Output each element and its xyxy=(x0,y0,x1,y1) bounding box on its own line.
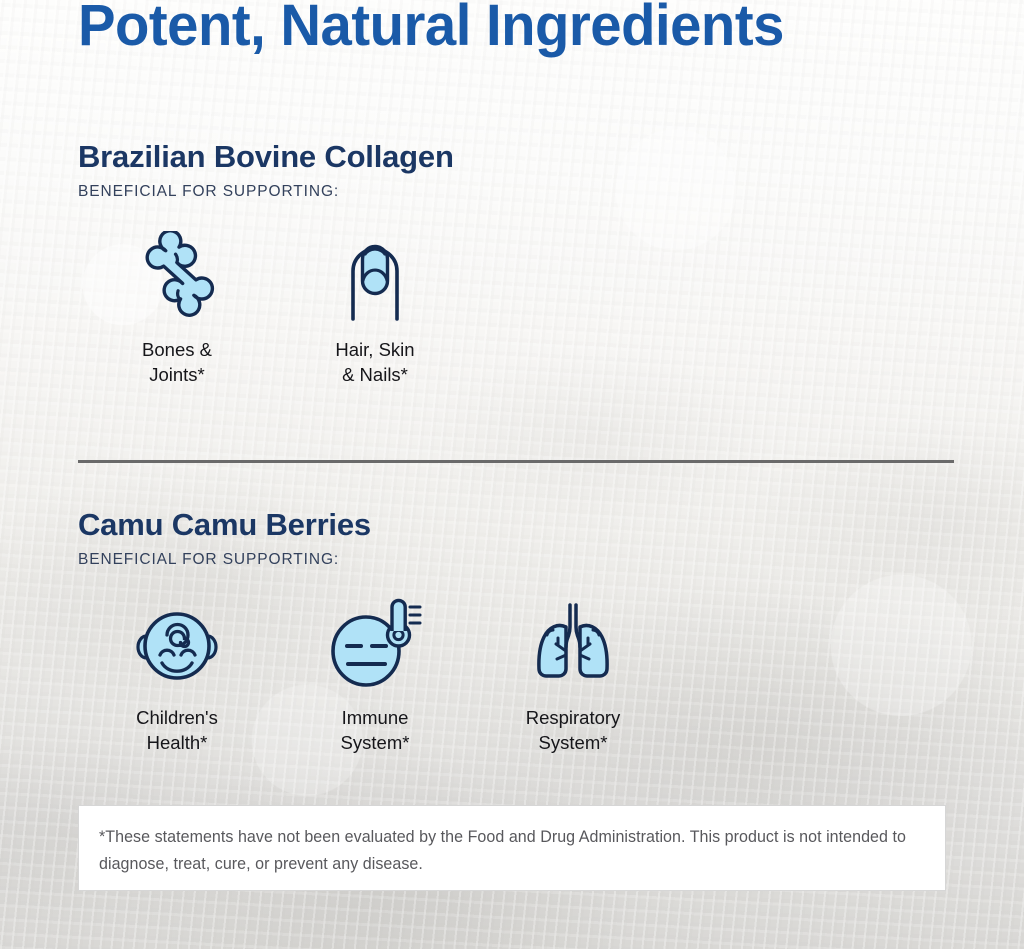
benefit-item-childrens-health: Children's Health* xyxy=(78,597,276,756)
ingredient-section-collagen: Brazilian Bovine Collagen BENEFICIAL FOR… xyxy=(78,140,474,388)
benefit-item-hair-skin-nails: Hair, Skin & Nails* xyxy=(276,229,474,388)
benefit-label: Immune System* xyxy=(341,706,410,756)
benefit-list: Children's Health* xyxy=(78,597,672,756)
disclaimer-box: *These statements have not been evaluate… xyxy=(78,805,946,891)
section-title: Camu Camu Berries xyxy=(78,508,672,542)
section-divider xyxy=(78,460,954,463)
benefit-label: Hair, Skin & Nails* xyxy=(335,338,414,388)
benefit-label: Bones & Joints* xyxy=(142,338,212,388)
page-title: Potent, Natural Ingredients xyxy=(78,0,784,57)
benefit-label: Children's Health* xyxy=(136,706,218,756)
ingredient-section-camu-camu: Camu Camu Berries BENEFICIAL FOR SUPPORT… xyxy=(78,508,672,756)
section-title: Brazilian Bovine Collagen xyxy=(78,140,474,174)
fingernail-icon xyxy=(339,229,411,325)
benefit-item-immune-system: Immune System* xyxy=(276,597,474,756)
bone-icon xyxy=(131,229,223,325)
section-subtitle: BENEFICIAL FOR SUPPORTING: xyxy=(78,551,672,569)
benefit-item-bones-joints: Bones & Joints* xyxy=(78,229,276,388)
ingredients-infographic: Potent, Natural Ingredients Brazilian Bo… xyxy=(0,0,1024,949)
baby-face-icon xyxy=(129,597,225,693)
benefit-list: Bones & Joints* xyxy=(78,229,474,388)
benefit-item-respiratory-system: Respiratory System* xyxy=(474,597,672,756)
disclaimer-text: *These statements have not been evaluate… xyxy=(99,824,917,878)
benefit-label: Respiratory System* xyxy=(526,706,621,756)
section-subtitle: BENEFICIAL FOR SUPPORTING: xyxy=(78,183,474,201)
lungs-icon xyxy=(525,597,621,693)
thermometer-face-icon xyxy=(325,597,425,693)
content-area: Potent, Natural Ingredients Brazilian Bo… xyxy=(0,0,1024,949)
